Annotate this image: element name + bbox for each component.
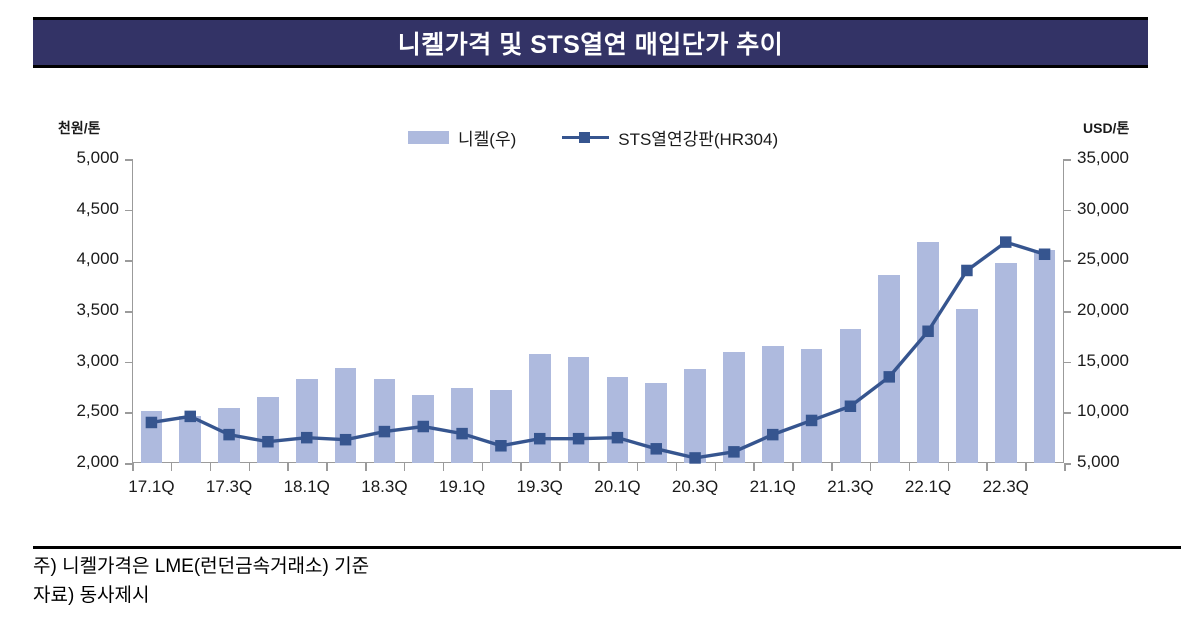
x-axis-tick: [986, 463, 988, 471]
x-axis-tick-label: 22.3Q: [983, 477, 1029, 497]
chart-title-bar: 니켈가격 및 STS열연 매입단가 추이: [33, 17, 1148, 68]
right-axis-tick-label: 10,000: [1077, 401, 1129, 421]
x-axis-tick: [1025, 463, 1027, 471]
x-axis-tick: [792, 463, 794, 471]
right-axis-tick: [1064, 159, 1071, 161]
legend-item-nickel: 니켈(우): [408, 125, 516, 150]
legend-label-sts: STS열연강판(HR304): [618, 125, 778, 150]
x-axis-tick-label: 19.1Q: [439, 477, 485, 497]
x-axis-tick-label: 18.3Q: [361, 477, 407, 497]
chart-legend: 니켈(우) STS열연강판(HR304): [408, 124, 858, 150]
line-path: [151, 242, 1044, 458]
x-axis-tick: [948, 463, 950, 471]
line-marker-17.2Q: [185, 411, 197, 423]
line-marker-21.1Q: [767, 429, 779, 441]
page-title: 니켈가격 및 STS열연 매입단가 추이: [398, 25, 783, 61]
chart-container: 천원/톤 USD/톤 니켈(우) STS열연강판(HR304) 2,0002,5…: [0, 80, 1181, 520]
footer-divider: [33, 546, 1181, 549]
line-marker-19.4Q: [573, 433, 585, 445]
line-marker-22.1Q: [922, 326, 934, 338]
left-axis-unit-label: 천원/톤: [58, 118, 101, 138]
legend-label-nickel: 니켈(우): [458, 125, 516, 150]
legend-item-sts: STS열연강판(HR304): [562, 125, 778, 150]
left-axis-tick: [125, 159, 132, 161]
line-series-layer: [132, 159, 1064, 463]
left-axis-tick: [125, 412, 132, 414]
line-marker-20.3Q: [689, 452, 701, 464]
left-axis-tick-label: 3,500: [76, 300, 119, 320]
line-marker-19.2Q: [495, 440, 507, 452]
plot-area: 2,0002,5003,0003,5004,0004,5005,0005,000…: [132, 159, 1064, 463]
right-axis-tick: [1064, 210, 1071, 212]
x-axis-tick: [831, 463, 833, 471]
x-axis-tick-label: 22.1Q: [905, 477, 951, 497]
x-axis-tick: [443, 463, 445, 471]
footer-note: 주) 니켈가격은 LME(런던금속거래소) 기준: [33, 552, 1033, 581]
x-axis-tick: [482, 463, 484, 471]
left-axis-tick-label: 2,500: [76, 401, 119, 421]
x-axis-tick-label: 17.1Q: [128, 477, 174, 497]
right-axis-tick-label: 5,000: [1077, 452, 1120, 472]
left-axis-tick: [125, 463, 132, 465]
line-marker-17.1Q: [146, 417, 158, 429]
x-axis-tick: [404, 463, 406, 471]
line-marker-21.4Q: [884, 371, 896, 383]
right-axis-tick-label: 20,000: [1077, 300, 1129, 320]
line-marker-21.3Q: [845, 401, 857, 413]
x-axis-tick-label: 20.3Q: [672, 477, 718, 497]
line-marker-19.1Q: [456, 428, 468, 440]
x-axis-tick-label: 17.3Q: [206, 477, 252, 497]
left-axis-tick: [125, 260, 132, 262]
right-axis-unit-label: USD/톤: [1083, 118, 1129, 138]
x-axis-tick: [1064, 463, 1066, 471]
line-marker-20.4Q: [728, 446, 740, 458]
left-axis-tick: [125, 311, 132, 313]
line-marker-17.4Q: [262, 436, 274, 448]
right-axis-tick: [1064, 260, 1071, 262]
x-axis-tick: [287, 463, 289, 471]
left-axis-tick: [125, 362, 132, 364]
x-axis-tick: [676, 463, 678, 471]
x-axis-tick: [210, 463, 212, 471]
right-axis-tick-label: 15,000: [1077, 351, 1129, 371]
line-marker-22.2Q: [961, 265, 973, 277]
line-marker-22.3Q: [1000, 236, 1012, 248]
bar-swatch-icon: [408, 131, 449, 144]
line-marker-18.1Q: [301, 432, 313, 444]
x-axis-tick: [715, 463, 717, 471]
x-axis-tick: [753, 463, 755, 471]
right-axis-tick-label: 35,000: [1077, 148, 1129, 168]
right-axis-tick-label: 30,000: [1077, 199, 1129, 219]
line-marker-20.1Q: [612, 432, 624, 444]
left-axis-tick-label: 5,000: [76, 148, 119, 168]
line-marker-21.2Q: [806, 415, 818, 427]
right-axis-tick-label: 25,000: [1077, 249, 1129, 269]
line-marker-18.3Q: [379, 426, 391, 438]
left-axis-tick-label: 4,500: [76, 199, 119, 219]
line-marker-19.3Q: [534, 433, 546, 445]
x-axis-tick: [365, 463, 367, 471]
right-axis-tick: [1064, 362, 1071, 364]
x-axis-tick: [520, 463, 522, 471]
x-axis-tick: [132, 463, 134, 471]
footer-notes: 주) 니켈가격은 LME(런던금속거래소) 기준 자료) 동사제시: [33, 552, 1033, 610]
line-marker-20.2Q: [651, 443, 663, 455]
x-axis-tick-label: 21.1Q: [750, 477, 796, 497]
x-axis-tick-label: 21.3Q: [827, 477, 873, 497]
right-axis-tick: [1064, 311, 1071, 313]
x-axis-tick: [598, 463, 600, 471]
x-axis-tick: [559, 463, 561, 471]
x-axis-tick: [637, 463, 639, 471]
line-marker-18.2Q: [340, 434, 352, 446]
left-axis-tick-label: 4,000: [76, 249, 119, 269]
line-marker-18.4Q: [418, 421, 430, 433]
x-axis-tick-label: 20.1Q: [594, 477, 640, 497]
right-axis-tick: [1064, 412, 1071, 414]
left-axis-tick-label: 3,000: [76, 351, 119, 371]
line-marker-22.4Q: [1039, 249, 1051, 261]
x-axis-tick: [171, 463, 173, 471]
x-axis-tick: [326, 463, 328, 471]
line-marker-17.3Q: [223, 429, 235, 441]
x-axis-tick-label: 18.1Q: [284, 477, 330, 497]
x-axis-tick: [870, 463, 872, 471]
x-axis-tick-label: 19.3Q: [517, 477, 563, 497]
x-axis-tick: [249, 463, 251, 471]
line-swatch-icon: [562, 131, 609, 144]
left-axis-tick-label: 2,000: [76, 452, 119, 472]
left-axis-tick: [125, 210, 132, 212]
footer-note: 자료) 동사제시: [33, 581, 1033, 610]
x-axis-tick: [909, 463, 911, 471]
